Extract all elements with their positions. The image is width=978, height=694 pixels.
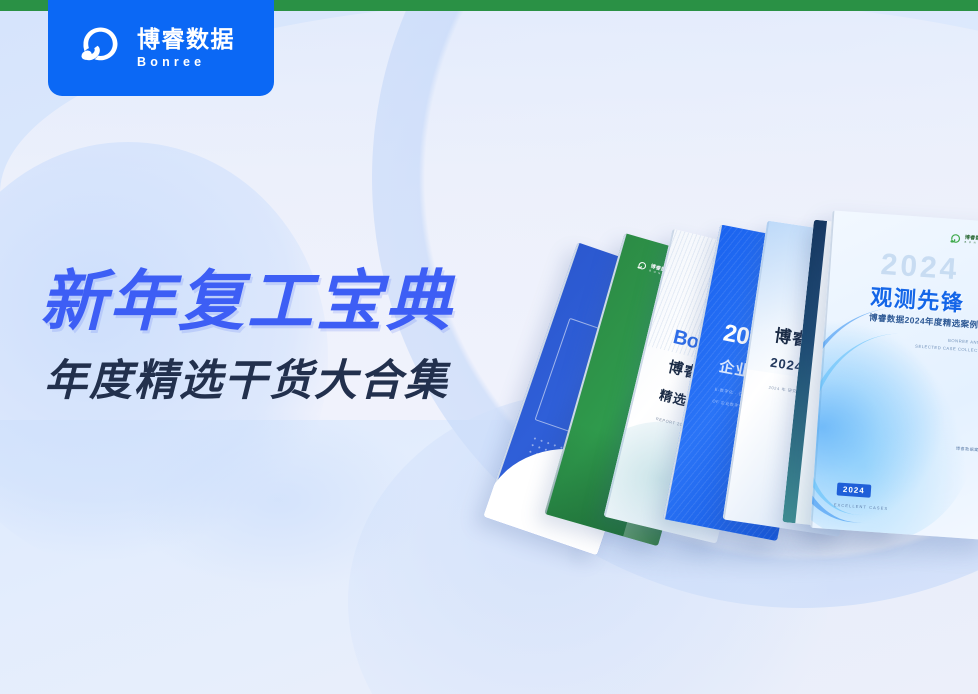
promo-banner: 博睿数据 Bonree 新年复工宝典 年度精选干货大合集	[0, 0, 978, 694]
brand-name-en: Bonree	[137, 56, 235, 69]
book-year-badge: 2024	[837, 482, 872, 497]
background-blob-lower-left	[128, 410, 428, 590]
book-title-en: 20	[721, 319, 752, 351]
book-logo-text: 博睿数据 B O N R E E	[964, 236, 978, 246]
brand-name-cn: 博睿数据	[137, 28, 235, 51]
brand-logo-text: 博睿数据 Bonree	[137, 28, 235, 69]
bonree-logo-mark	[635, 260, 649, 274]
hero-text-block: 新年复工宝典 年度精选干货大合集	[40, 268, 454, 403]
book-cover-featured[interactable]: 博睿数据 B O N R E E 2024 观测先锋 博睿数据2024年度精选案…	[810, 210, 978, 540]
hero-headline: 新年复工宝典	[40, 268, 454, 334]
book-logo: 博睿数据 B O N R E E	[948, 233, 978, 249]
book-stack: 博睿数据 B O N R E E Bo 博睿 精选 REPORT 2024 RE…	[470, 210, 978, 590]
brand-logo-badge[interactable]: 博睿数据 Bonree	[48, 0, 274, 96]
hero-subheadline: 年度精选干货大合集	[44, 360, 454, 403]
bonree-logo-mark	[74, 23, 124, 73]
bonree-logo-mark	[948, 233, 962, 247]
book-logo-en: B O N R E E	[964, 242, 978, 246]
